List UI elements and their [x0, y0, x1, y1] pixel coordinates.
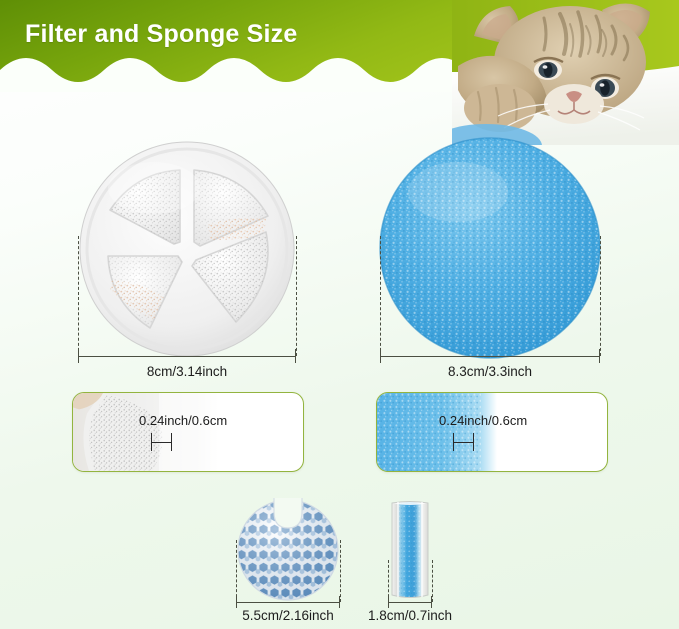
- dim-cap-left: [388, 596, 389, 608]
- filter-dimension-label: 8cm/3.14inch: [78, 364, 296, 379]
- page-title: Filter and Sponge Size: [25, 20, 298, 49]
- dim-cap-left: [236, 596, 237, 608]
- sponge-edge-photo: [377, 393, 497, 471]
- dim-tick-left: [380, 236, 381, 356]
- dim-tick-right: [432, 560, 433, 602]
- dim-cap-right: [295, 349, 296, 363]
- dim-tick-left: [78, 236, 79, 356]
- sponge-thickness-label: 0.24inch/0.6cm: [439, 413, 527, 428]
- honeycomb-disc-image: [236, 498, 340, 602]
- strip-dimension-label: 1.8cm/0.7inch: [346, 608, 474, 623]
- honeycomb-disc-graphic: [236, 498, 340, 602]
- sponge-disc-graphic: [378, 136, 602, 360]
- strip-side-image: [388, 500, 432, 600]
- dim-bar: [380, 356, 600, 357]
- sponge-thickness-callout: 0.24inch/0.6cm: [376, 392, 608, 472]
- dim-cap-left: [78, 349, 79, 363]
- dim-bar: [388, 602, 432, 603]
- thick-bar: [453, 442, 474, 443]
- dim-cap-left: [380, 349, 381, 363]
- dim-tick-right: [600, 236, 601, 356]
- dim-bar: [78, 356, 296, 357]
- filter-disc-image: [78, 140, 296, 358]
- dim-tick-left: [236, 540, 237, 602]
- cat-photo: [452, 0, 679, 145]
- filter-thickness-callout: 0.24inch/0.6cm: [72, 392, 304, 472]
- sponge-disc-image: [378, 136, 602, 360]
- infographic-page: Filter and Sponge Size: [0, 0, 679, 629]
- dim-bar: [236, 602, 340, 603]
- strip-side-graphic: [388, 500, 432, 600]
- filter-disc-graphic: [78, 140, 296, 358]
- honeycomb-dimension-label: 5.5cm/2.16inch: [218, 608, 358, 623]
- sponge-dimension-label: 8.3cm/3.3inch: [380, 364, 600, 379]
- cat-illustration: [452, 0, 679, 145]
- dim-cap-right: [431, 596, 432, 608]
- dim-tick-right: [340, 540, 341, 602]
- dim-cap-right: [339, 596, 340, 608]
- dim-cap-right: [599, 349, 600, 363]
- filter-edge-photo: [73, 393, 221, 471]
- filter-thickness-label: 0.24inch/0.6cm: [139, 413, 227, 428]
- thick-bar: [151, 442, 172, 443]
- dim-tick-right: [296, 236, 297, 356]
